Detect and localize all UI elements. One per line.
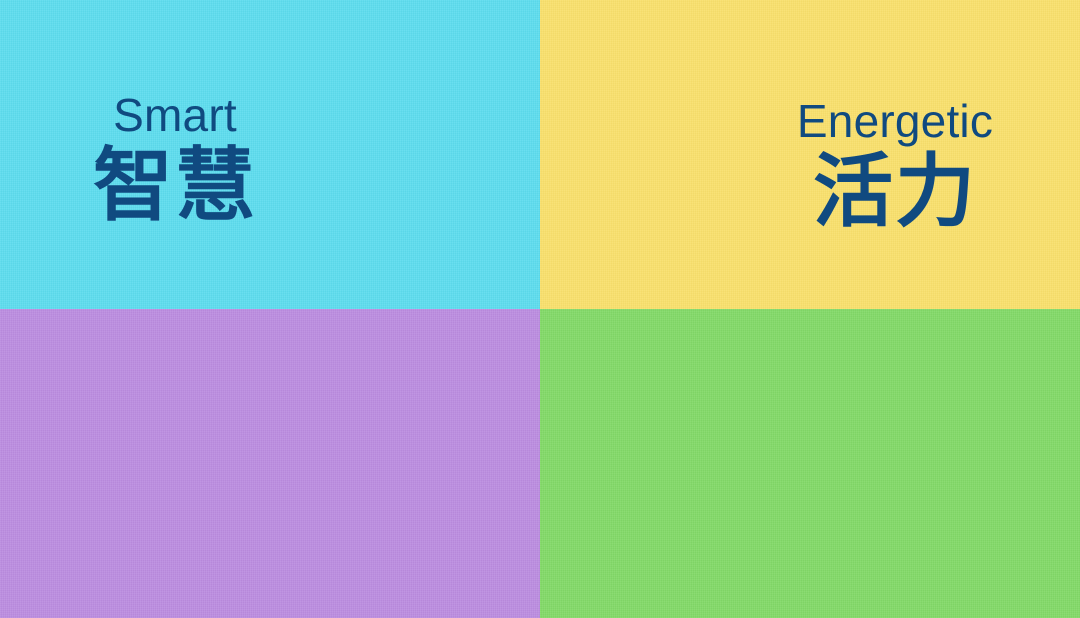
quadrant-energetic: Energetic 活力	[540, 0, 1080, 309]
quadrant-smart-text-block: Smart 智慧	[0, 92, 350, 229]
quadrant-smart-label-en: Smart	[0, 92, 350, 139]
quadrant-energetic-label-zh: 活力	[710, 149, 1080, 235]
quadrant-sustainable: Sustainable 永續	[540, 309, 1080, 618]
quadrant-innovative: Innovative 創新	[0, 309, 540, 618]
quadrant-smart-label-zh: 智慧	[0, 143, 350, 229]
quadrant-energetic-text-block: Energetic 活力	[710, 98, 1080, 235]
quadrant-smart: Smart 智慧	[0, 0, 540, 309]
quadrant-energetic-label-en: Energetic	[710, 98, 1080, 145]
brand-values-quadrant-board: Smart 智慧 Energetic 活力 Innovative 創新 Sust…	[0, 0, 1080, 618]
